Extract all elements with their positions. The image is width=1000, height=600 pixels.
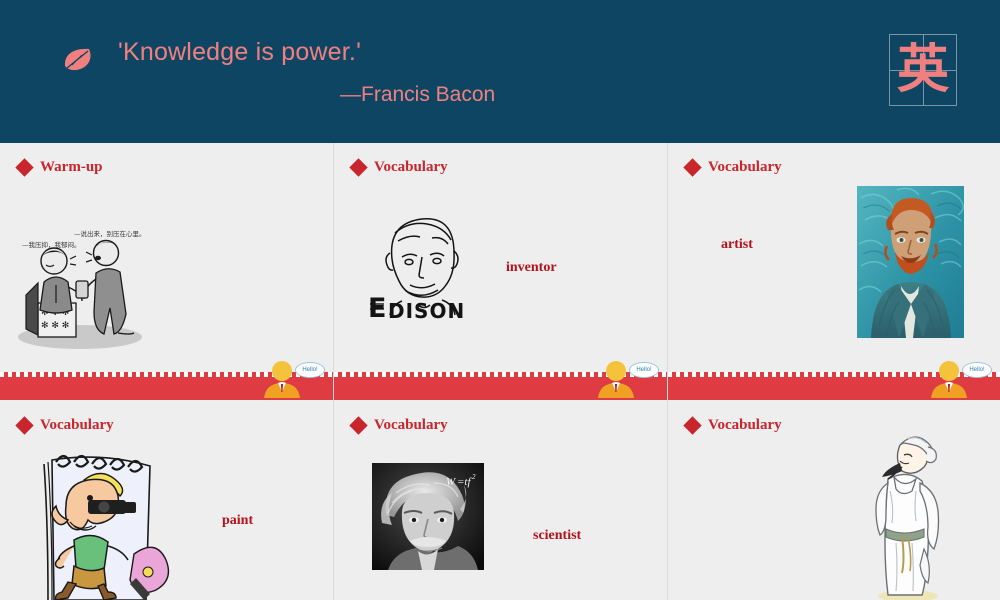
- card-vocabulary-scientist[interactable]: Vocabulary: [334, 401, 667, 600]
- logo-character: 英: [890, 35, 956, 105]
- card-header: Vocabulary: [686, 417, 782, 434]
- svg-text:=tf: =tf: [457, 476, 472, 488]
- two-men-talking-cartoon: —我压抑，我郁闷。 —说出来，别压在心里。 ✻ ✻ ✻✻ ✻ ✻: [8, 225, 150, 355]
- card-header: Vocabulary: [352, 417, 448, 434]
- card-header: Vocabulary: [18, 417, 114, 434]
- svg-text:DISON: DISON: [388, 299, 465, 323]
- cartoon-painter-sketchpad: [30, 446, 170, 600]
- card-vocabulary-poet[interactable]: Vocabulary: [668, 401, 1000, 600]
- hello-bubble: Hello!: [629, 362, 659, 378]
- edison-portrait-lineart: E DISON: [362, 205, 482, 323]
- diamond-bullet-icon: [349, 158, 367, 176]
- card-title: Vocabulary: [374, 417, 448, 434]
- svg-text:2: 2: [472, 473, 476, 481]
- card-header: Warm-up: [18, 159, 103, 176]
- card-vocabulary-artist[interactable]: Vocabulary: [668, 143, 1000, 400]
- vocabulary-word: scientist: [533, 528, 581, 544]
- vocabulary-word: artist: [721, 237, 753, 253]
- slide-grid-page: 'Knowledge is power.' —Francis Bacon 英 W…: [0, 0, 1000, 600]
- svg-text:✻ ✻ ✻: ✻ ✻ ✻: [41, 321, 69, 331]
- card-title: Vocabulary: [374, 159, 448, 176]
- card-vocabulary-paint[interactable]: Vocabulary: [0, 401, 333, 600]
- diamond-bullet-icon: [683, 158, 701, 176]
- vocabulary-word: paint: [222, 513, 253, 529]
- hello-bubble: Hello!: [295, 362, 325, 378]
- chinese-poet-illustration: [850, 421, 962, 600]
- diamond-bullet-icon: [349, 416, 367, 434]
- card-title: Vocabulary: [708, 159, 782, 176]
- card-grid: Warm-up —我压抑，我郁闷。 —说出来，别压在心里。 ✻ ✻ ✻✻ ✻ ✻: [0, 143, 1000, 600]
- card-title: Warm-up: [40, 159, 103, 176]
- card-warm-up[interactable]: Warm-up —我压抑，我郁闷。 —说出来，别压在心里。 ✻ ✻ ✻✻ ✻ ✻: [0, 143, 333, 400]
- van-gogh-self-portrait: [857, 186, 964, 338]
- card-title: Vocabulary: [708, 417, 782, 434]
- card-header: Vocabulary: [686, 159, 782, 176]
- vocabulary-word: inventor: [506, 260, 557, 276]
- header-banner: 'Knowledge is power.' —Francis Bacon 英: [0, 0, 1000, 143]
- footer-band: Hello!: [334, 372, 667, 400]
- quote-text: 'Knowledge is power.': [118, 38, 361, 67]
- quote-author: —Francis Bacon: [340, 83, 495, 107]
- diamond-bullet-icon: [15, 416, 33, 434]
- hello-bubble: Hello!: [962, 362, 992, 378]
- footer-band: Hello!: [0, 372, 333, 400]
- diamond-bullet-icon: [683, 416, 701, 434]
- einstein-photo: W =tf 2: [372, 463, 484, 570]
- diamond-bullet-icon: [15, 158, 33, 176]
- svg-text:E: E: [368, 293, 386, 323]
- card-header: Vocabulary: [352, 159, 448, 176]
- card-title: Vocabulary: [40, 417, 114, 434]
- card-vocabulary-inventor[interactable]: Vocabulary: [334, 143, 667, 400]
- subject-logo: 英: [889, 34, 957, 106]
- svg-text:W: W: [446, 476, 456, 488]
- svg-text:—说出来，别压在心里。: —说出来，别压在心里。: [74, 229, 146, 238]
- leaf-icon: [62, 46, 96, 72]
- footer-band: Hello!: [668, 372, 1000, 400]
